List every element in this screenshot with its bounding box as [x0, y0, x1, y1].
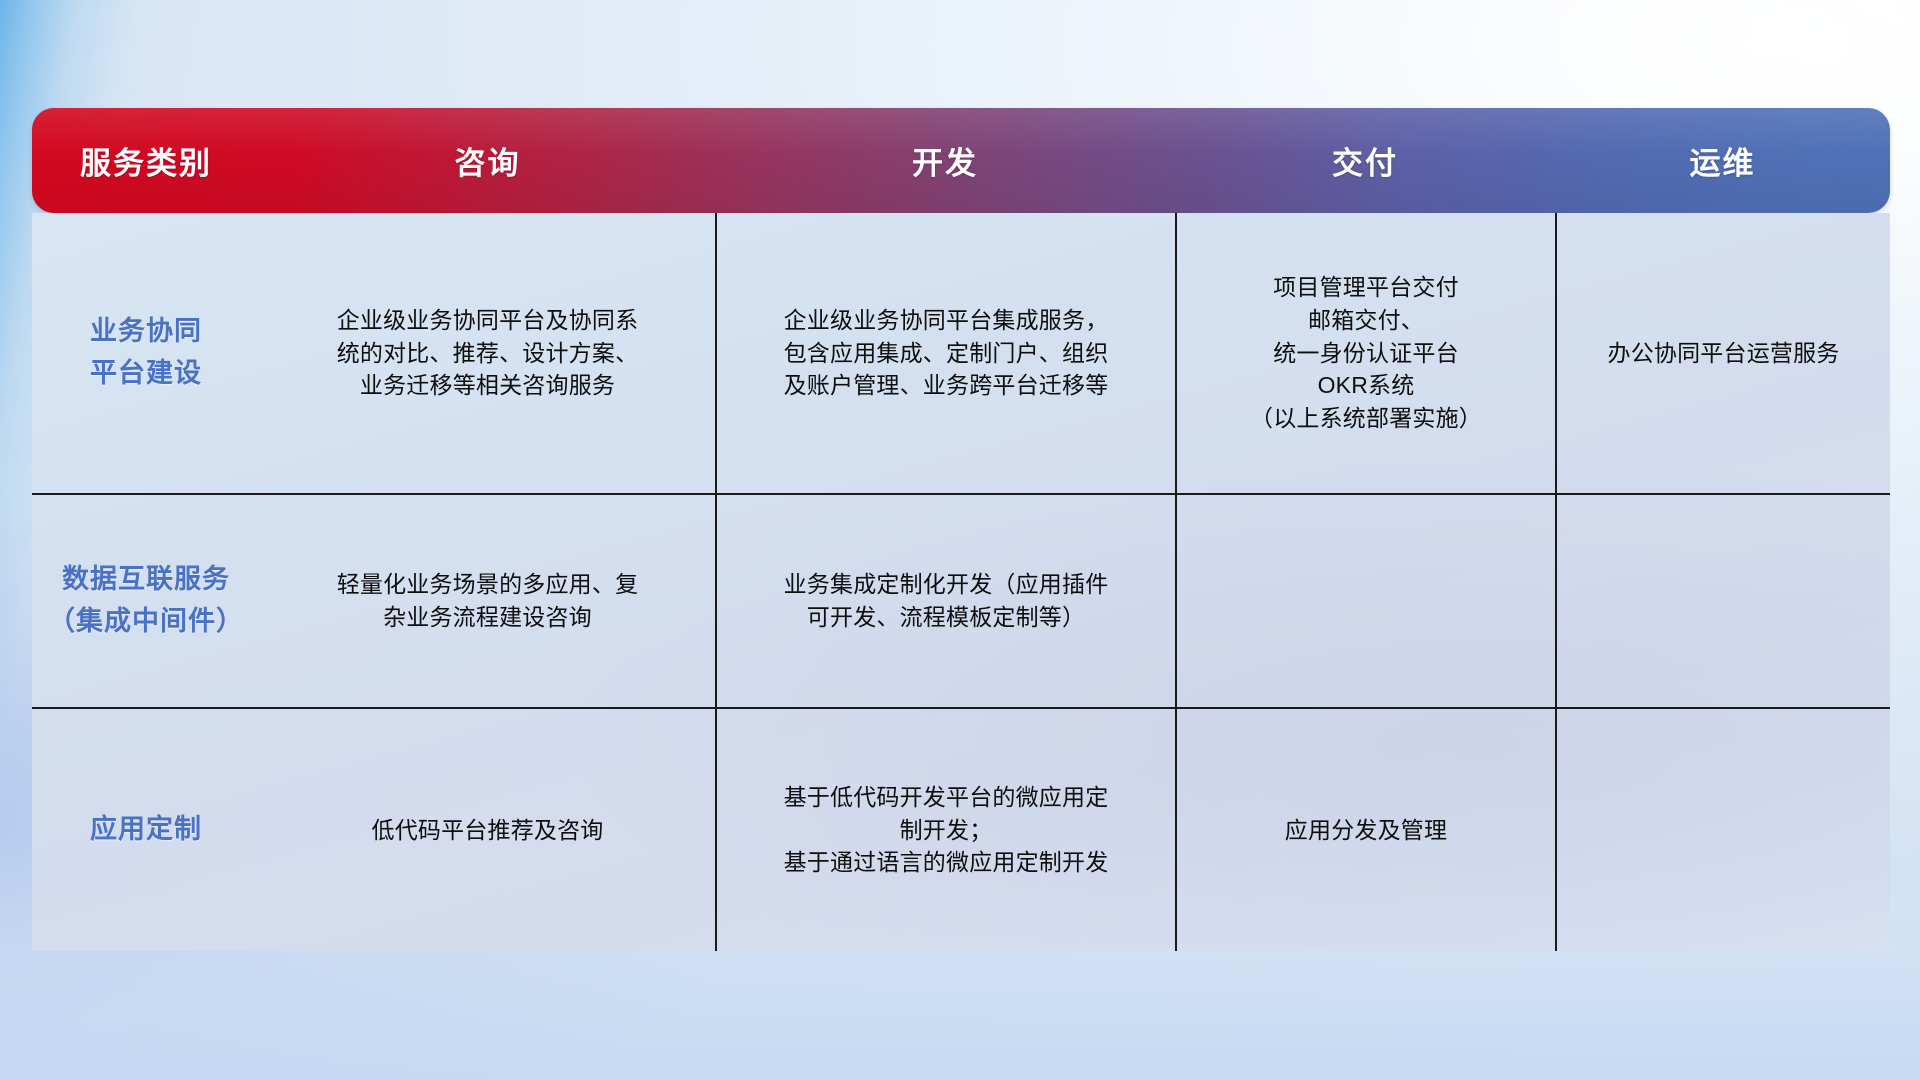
cell-text: 基于低代码开发平台的微应用定 制开发； 基于通过语言的微应用定制开发 — [784, 781, 1109, 879]
cell-text: 企业级业务协同平台及协同系 统的对比、推荐、设计方案、 业务迁移等相关咨询服务 — [337, 304, 639, 402]
row-category-cell: 应用定制 — [32, 709, 260, 951]
row-category-label: 数据互联服务 （集成中间件） — [48, 559, 244, 643]
cell-operations — [1555, 709, 1890, 951]
slide-canvas: 服务类别 咨询 开发 交付 运维 业务协同 平台建设 企业级业务协同平台及协同系… — [0, 0, 1920, 1080]
cell-development: 基于低代码开发平台的微应用定 制开发； 基于通过语言的微应用定制开发 — [715, 709, 1175, 951]
row-category-cell: 业务协同 平台建设 — [32, 213, 260, 493]
cell-text: 办公协同平台运营服务 — [1608, 337, 1840, 370]
service-matrix-table: 服务类别 咨询 开发 交付 运维 业务协同 平台建设 企业级业务协同平台及协同系… — [32, 108, 1890, 951]
cell-operations — [1555, 495, 1890, 707]
cell-consulting: 低代码平台推荐及咨询 — [260, 709, 715, 951]
cell-text: 应用分发及管理 — [1285, 814, 1447, 847]
cell-text: 企业级业务协同平台集成服务， 包含应用集成、定制门户、组织 及账户管理、业务跨平… — [784, 304, 1109, 402]
column-header-delivery: 交付 — [1175, 138, 1555, 183]
row-category-cell: 数据互联服务 （集成中间件） — [32, 495, 260, 707]
cell-delivery: 应用分发及管理 — [1175, 709, 1555, 951]
column-header-operations: 运维 — [1555, 138, 1890, 183]
row-category-label: 应用定制 — [90, 809, 202, 851]
column-header-consulting: 咨询 — [260, 138, 715, 183]
cell-text: 轻量化业务场景的多应用、复 杂业务流程建设咨询 — [337, 568, 639, 633]
table-row: 业务协同 平台建设 企业级业务协同平台及协同系 统的对比、推荐、设计方案、 业务… — [32, 213, 1890, 493]
row-category-label: 业务协同 平台建设 — [90, 311, 202, 395]
table-header-row: 服务类别 咨询 开发 交付 运维 — [32, 108, 1890, 213]
cell-operations: 办公协同平台运营服务 — [1555, 213, 1890, 493]
cell-delivery — [1175, 495, 1555, 707]
cell-consulting: 轻量化业务场景的多应用、复 杂业务流程建设咨询 — [260, 495, 715, 707]
cell-consulting: 企业级业务协同平台及协同系 统的对比、推荐、设计方案、 业务迁移等相关咨询服务 — [260, 213, 715, 493]
cell-text: 业务集成定制化开发（应用插件 可开发、流程模板定制等） — [784, 568, 1109, 633]
cell-delivery: 项目管理平台交付 邮箱交付、 统一身份认证平台 OKR系统 （以上系统部署实施） — [1175, 213, 1555, 493]
table-row: 应用定制 低代码平台推荐及咨询 基于低代码开发平台的微应用定 制开发； 基于通过… — [32, 707, 1890, 951]
cell-text: 项目管理平台交付 邮箱交付、 统一身份认证平台 OKR系统 （以上系统部署实施） — [1250, 271, 1482, 434]
table-row: 数据互联服务 （集成中间件） 轻量化业务场景的多应用、复 杂业务流程建设咨询 业… — [32, 493, 1890, 707]
column-header-development: 开发 — [715, 138, 1175, 183]
column-header-category: 服务类别 — [32, 138, 260, 183]
table-body: 业务协同 平台建设 企业级业务协同平台及协同系 统的对比、推荐、设计方案、 业务… — [32, 213, 1890, 951]
cell-text: 低代码平台推荐及咨询 — [372, 814, 604, 847]
cell-development: 企业级业务协同平台集成服务， 包含应用集成、定制门户、组织 及账户管理、业务跨平… — [715, 213, 1175, 493]
cell-development: 业务集成定制化开发（应用插件 可开发、流程模板定制等） — [715, 495, 1175, 707]
